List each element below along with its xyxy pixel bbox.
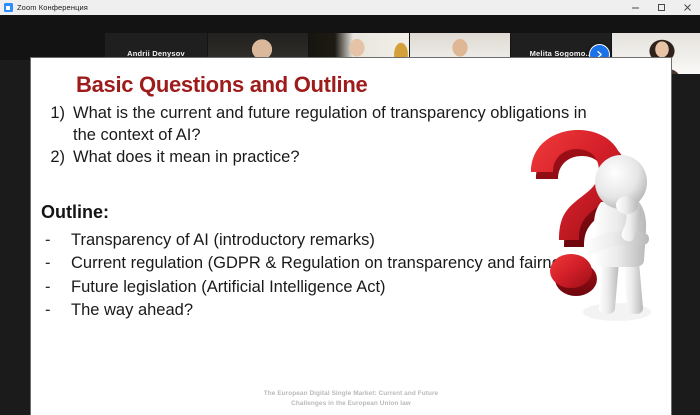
minimize-icon[interactable] bbox=[622, 0, 648, 15]
window-controls bbox=[622, 0, 700, 15]
question-mark-thinking-figure-image bbox=[505, 126, 661, 341]
bullet-marker: - bbox=[39, 252, 71, 274]
window-title: Zoom Конференция bbox=[17, 3, 88, 12]
zoom-icon bbox=[4, 3, 13, 12]
participant-filmstrip: Andrii Denysov PABLO MR Matúš Mesarčík O… bbox=[0, 15, 700, 60]
maximize-icon[interactable] bbox=[648, 0, 674, 15]
bullet-marker: - bbox=[39, 299, 71, 321]
question-mark-illustration bbox=[505, 126, 661, 341]
bullet-marker: - bbox=[39, 229, 71, 251]
participant-name: Melita Sogomo... bbox=[530, 49, 593, 58]
slide-footer: The European Digital Single Market: Curr… bbox=[31, 389, 671, 410]
footer-line-1: The European Digital Single Market: Curr… bbox=[31, 389, 671, 399]
shared-slide: Basic Questions and Outline 1) What is t… bbox=[31, 58, 671, 415]
participant-name: Andrii Denysov bbox=[127, 49, 185, 58]
close-icon[interactable] bbox=[674, 0, 700, 15]
zoom-meeting-window: Zoom Конференция Andrii Denysov PABLO MR bbox=[0, 0, 700, 415]
outline-heading: Outline: bbox=[41, 202, 109, 223]
bullet-marker: - bbox=[39, 276, 71, 298]
question-number: 2) bbox=[39, 147, 73, 169]
window-title-bar: Zoom Конференция bbox=[0, 0, 700, 16]
footer-line-2: Challenges in the European Union law bbox=[31, 399, 671, 409]
slide-title: Basic Questions and Outline bbox=[76, 72, 367, 98]
question-number: 1) bbox=[39, 103, 73, 147]
